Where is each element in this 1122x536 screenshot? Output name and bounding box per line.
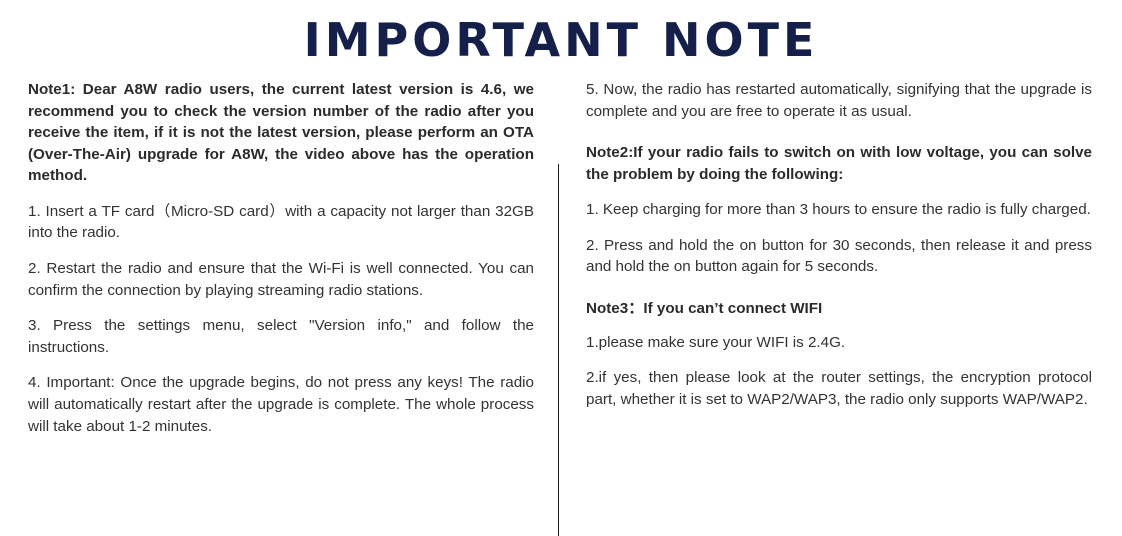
right-column: 5. Now, the radio has restarted automati…	[586, 79, 1092, 424]
left-step-4: 4. Important: Once the upgrade begins, d…	[28, 372, 534, 437]
note3-step-2: 2.if yes, then please look at the router…	[586, 367, 1092, 410]
note2-step-1: 1. Keep charging for more than 3 hours t…	[586, 199, 1092, 221]
note3-heading: Note3：If you can’t connect WIFI	[586, 298, 1092, 320]
important-note-page: IMPORTANT NOTE Note1: Dear A8W radio use…	[0, 0, 1122, 465]
note2-heading: Note2:If your radio fails to switch on w…	[586, 142, 1092, 185]
page-title: IMPORTANT NOTE	[0, 0, 1122, 63]
left-step-2: 2. Restart the radio and ensure that the…	[28, 258, 534, 301]
two-column-body: Note1: Dear A8W radio users, the current…	[0, 79, 1122, 451]
left-step-1: 1. Insert a TF card（Micro-SD card）with a…	[28, 201, 534, 244]
note2-step-2: 2. Press and hold the on button for 30 s…	[586, 235, 1092, 278]
column-divider	[558, 164, 559, 536]
right-step-5: 5. Now, the radio has restarted automati…	[586, 79, 1092, 122]
left-step-3: 3. Press the settings menu, select "Vers…	[28, 315, 534, 358]
left-column: Note1: Dear A8W radio users, the current…	[28, 79, 534, 451]
note1-paragraph: Note1: Dear A8W radio users, the current…	[28, 79, 534, 187]
note3-step-1: 1.please make sure your WIFI is 2.4G.	[586, 332, 1092, 354]
